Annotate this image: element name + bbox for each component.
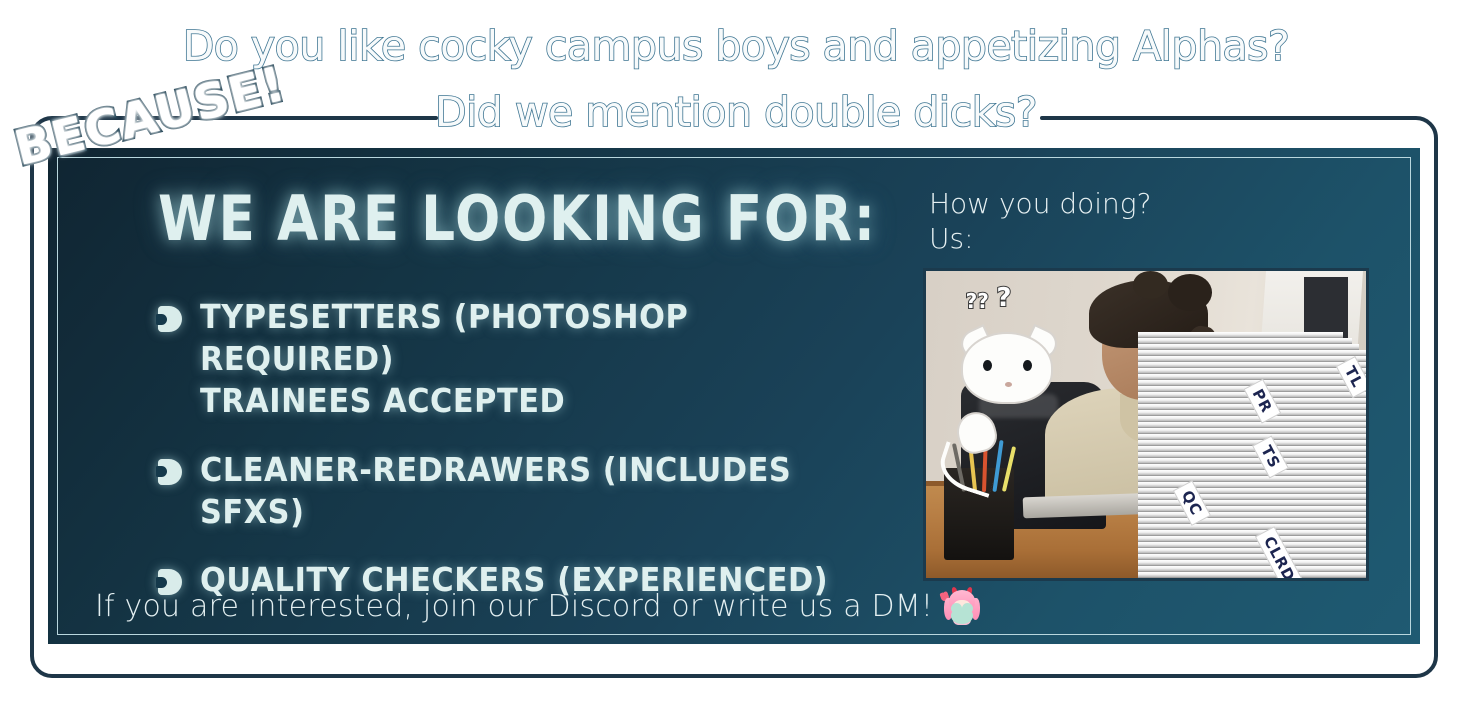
role-label: TYPESETTERS (PHOTOSHOP REQUIRED) TRAINEE… — [200, 296, 870, 423]
cat-sticker-icon — [961, 332, 1053, 404]
photo-woman-bun-2 — [1133, 271, 1168, 299]
cat-sticker-nose-icon — [1005, 382, 1012, 387]
list-item: CLEANER-REDRAWERS (INCLUDES SFXS) — [158, 449, 928, 533]
heart-icon — [951, 608, 973, 624]
divider-left — [242, 116, 438, 120]
arrow-bullet-icon — [158, 459, 182, 485]
page-title: WE ARE LOOKING FOR: — [158, 188, 820, 250]
paper-stack: TL PR TS QC CLRD — [1138, 314, 1369, 578]
roles-list: TYPESETTERS (PHOTOSHOP REQUIRED) TRAINEE… — [158, 296, 928, 601]
divider-right — [1040, 116, 1336, 120]
headline-line-1: Do you like cocky campus boys and appeti… — [0, 22, 1472, 70]
photo-woman-bun — [1168, 274, 1212, 311]
role-label: CLEANER-REDRAWERS (INCLUDES SFXS) — [200, 449, 870, 533]
footer-note-text: If you are interested, join our Discord … — [95, 589, 933, 624]
aside-answer: Us: — [929, 221, 1151, 256]
list-item: TYPESETTERS (PHOTOSHOP REQUIRED) TRAINEE… — [158, 296, 928, 423]
arrow-bullet-icon — [158, 306, 182, 332]
recruitment-column: WE ARE LOOKING FOR: TYPESETTERS (PHOTOSH… — [158, 188, 928, 627]
question-mark-small-icon: ?? — [966, 289, 989, 313]
question-mark-large-icon: ? — [996, 283, 1011, 313]
meme-photo: ?? ? — [923, 268, 1369, 581]
poster-panel: WE ARE LOOKING FOR: TYPESETTERS (PHOTOSH… — [48, 148, 1420, 644]
footer-note: If you are interested, join our Discord … — [95, 586, 983, 626]
aside-question: How you doing? — [929, 186, 1151, 221]
poster-card: WE ARE LOOKING FOR: TYPESETTERS (PHOTOSH… — [30, 116, 1438, 678]
aside-column: How you doing? Us: — [929, 186, 1151, 256]
cat-sticker-eye-icon — [1023, 360, 1032, 371]
anime-girl-sticker-icon — [941, 586, 983, 626]
